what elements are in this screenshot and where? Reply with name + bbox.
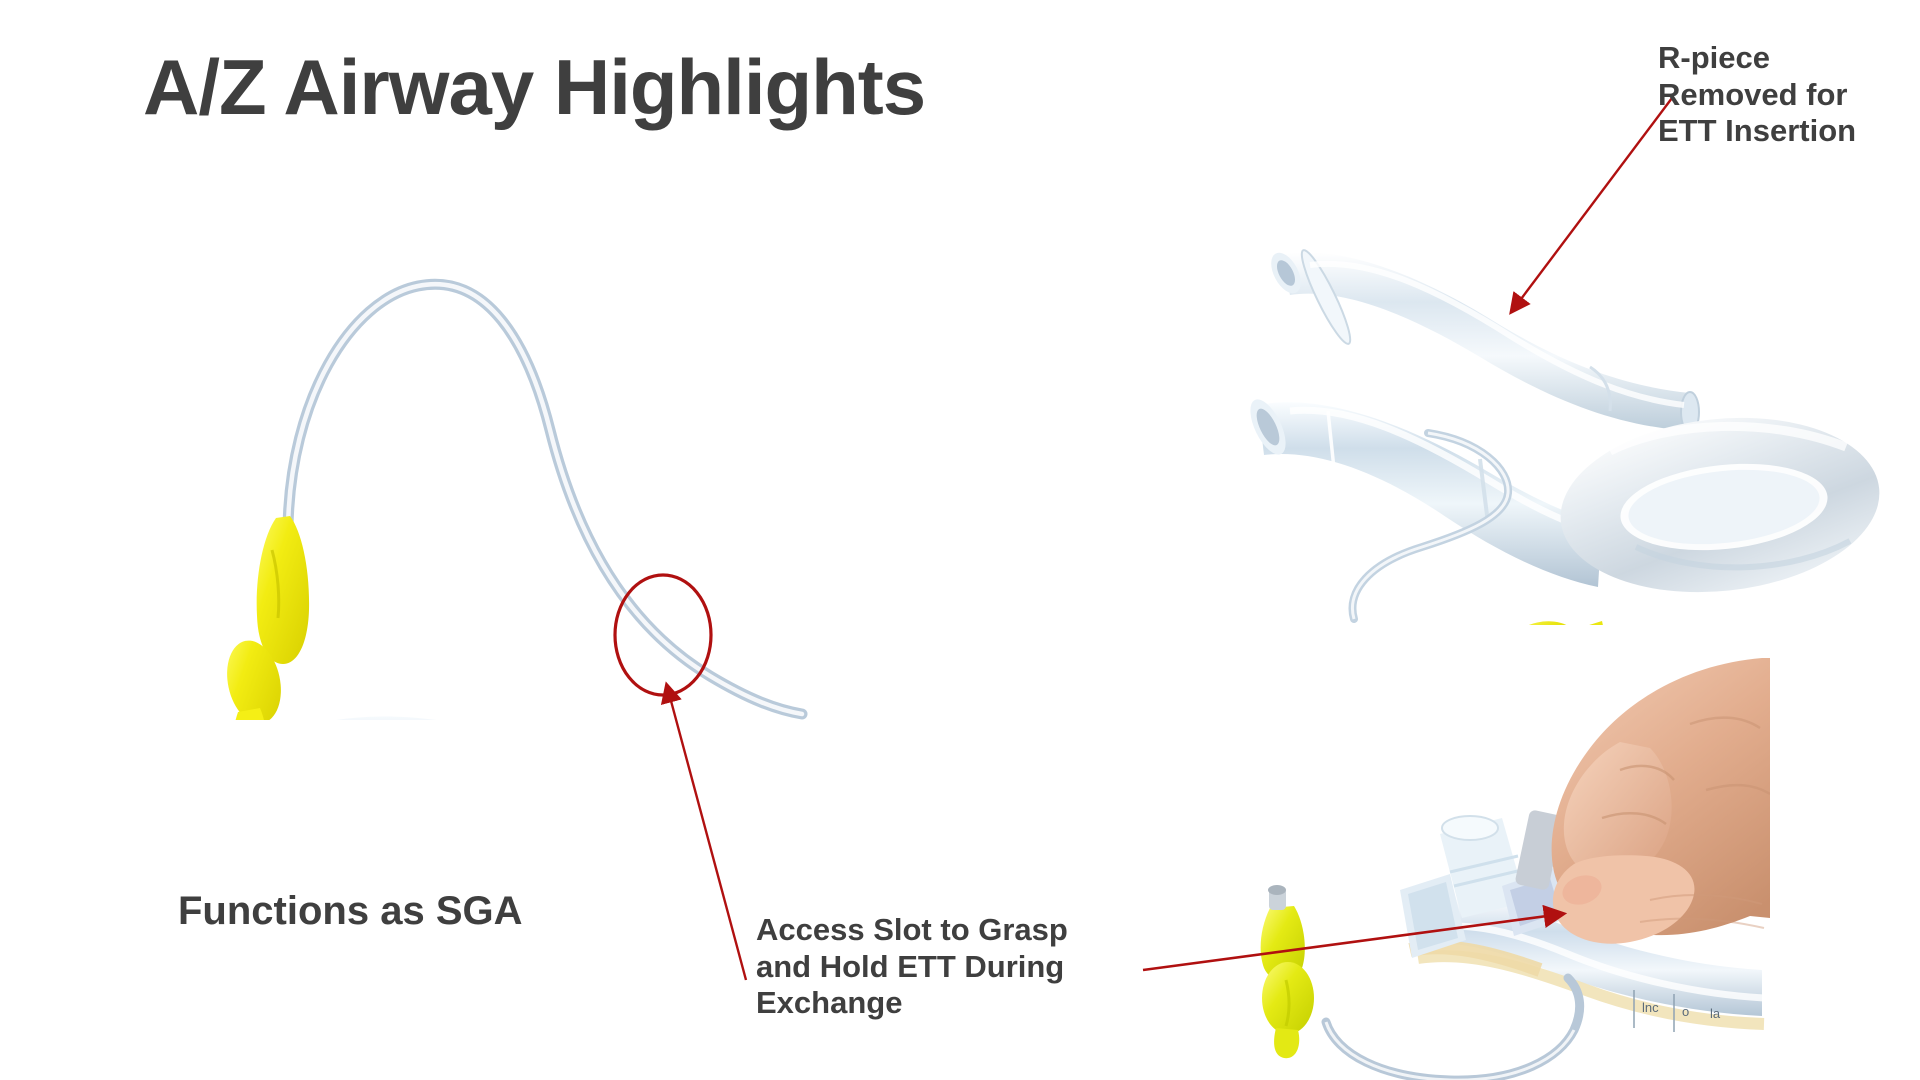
pilot-balloon [1486, 615, 1606, 625]
airway-device-no-r-piece [1250, 394, 1888, 625]
pilot-balloon [1261, 885, 1314, 1058]
functions-as-sga-label: Functions as SGA [178, 888, 523, 935]
clinician-hand [1552, 658, 1770, 944]
detached-r-piece [1265, 246, 1699, 432]
inflation-line [288, 284, 802, 714]
svg-text:o: o [1682, 1004, 1689, 1019]
slide-canvas: lnc o la [0, 0, 1920, 1080]
r-piece-callout-label: R-piece Removed for ETT Insertion [1658, 40, 1856, 150]
svg-text:la: la [1710, 1006, 1721, 1021]
access-slot-callout-label: Access Slot to Grasp and Hold ETT During… [756, 912, 1068, 1022]
access-slot-arrow [667, 686, 746, 980]
svg-text:lnc: lnc [1642, 1000, 1659, 1015]
airway-tube [325, 716, 790, 720]
mask-cuff-ring [1552, 403, 1888, 608]
page-title: A/Z Airway Highlights [143, 48, 925, 126]
hand-grasping-ett-photo: lnc o la [1150, 650, 1770, 1080]
pilot-balloon [220, 516, 309, 720]
main-sga-device-photo [150, 250, 1150, 720]
r-piece-removed-photo [1250, 215, 1920, 625]
